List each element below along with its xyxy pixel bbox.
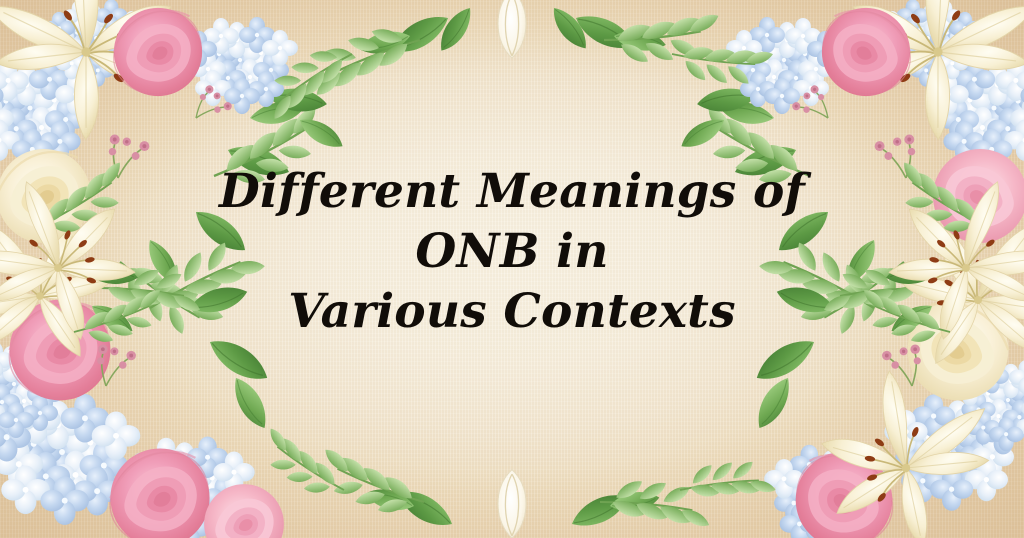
title-block: Different Meanings of ONB in Various Con…	[0, 168, 1024, 335]
poster-canvas: Different Meanings of ONB in Various Con…	[0, 0, 1024, 538]
title-line-2: ONB in	[0, 228, 1024, 275]
title-line-3: Various Contexts	[0, 288, 1024, 335]
title-line-1: Different Meanings of	[0, 168, 1024, 215]
